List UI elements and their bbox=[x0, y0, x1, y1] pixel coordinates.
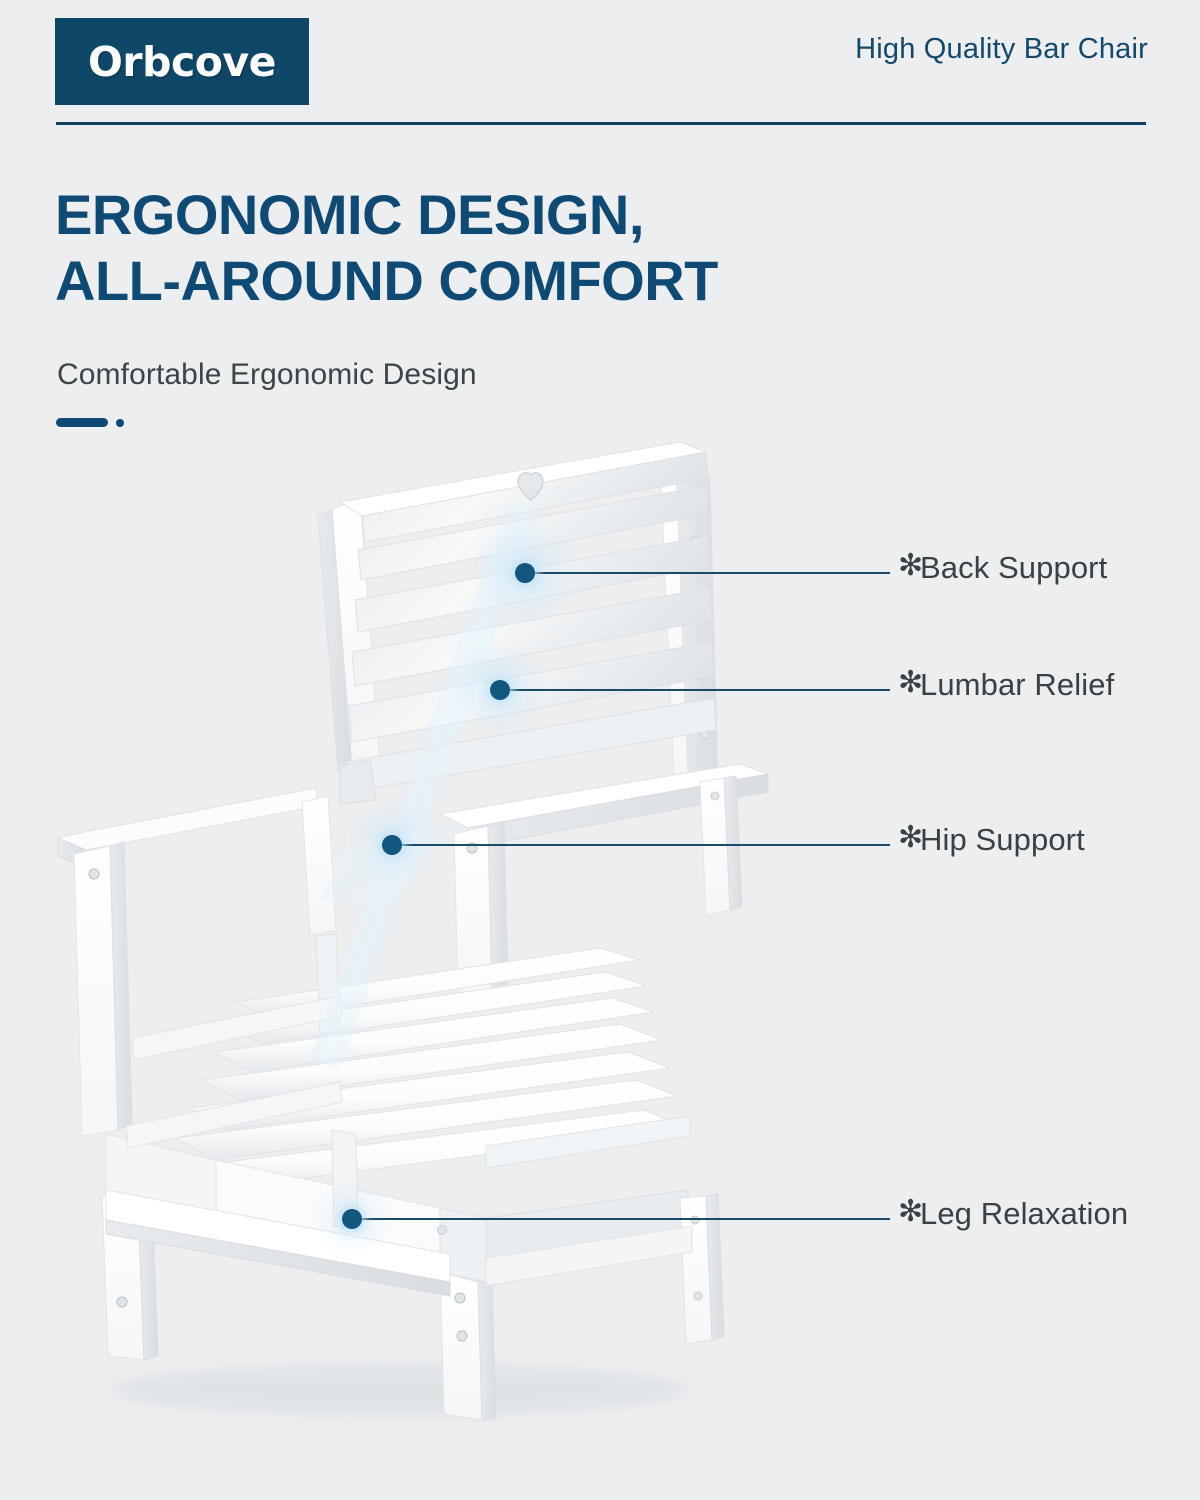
headline-line-1: ERGONOMIC DESIGN, bbox=[55, 182, 955, 248]
accent-dash bbox=[56, 418, 108, 427]
brand-logo-text: Orbcove bbox=[88, 38, 276, 86]
accent-rule bbox=[56, 418, 136, 427]
header-tagline: High Quality Bar Chair bbox=[855, 33, 1148, 66]
callout-label-lumbar-relief: Lumbar Relief bbox=[920, 667, 1114, 703]
callout-dot bbox=[515, 563, 535, 583]
page-subtitle: Comfortable Ergonomic Design bbox=[57, 358, 477, 392]
callout-label-back-support: Back Support bbox=[920, 550, 1107, 586]
callout-leader-line bbox=[392, 844, 890, 846]
page-headline: ERGONOMIC DESIGN, ALL-AROUND COMFORT bbox=[55, 182, 955, 313]
headline-line-2: ALL-AROUND COMFORT bbox=[55, 248, 955, 314]
product-image-bar-chair bbox=[40, 430, 800, 1430]
accent-dot bbox=[116, 419, 124, 427]
callout-leader-line bbox=[525, 572, 890, 574]
callout-dot bbox=[382, 835, 402, 855]
callout-dot bbox=[490, 680, 510, 700]
callout-label-leg-relaxation: Leg Relaxation bbox=[920, 1196, 1128, 1232]
brand-logo: Orbcove bbox=[55, 18, 309, 105]
header-divider bbox=[56, 122, 1146, 125]
callout-dot bbox=[342, 1209, 362, 1229]
callout-label-hip-support: Hip Support bbox=[920, 822, 1085, 858]
callout-leader-line bbox=[352, 1218, 890, 1220]
callout-leader-line bbox=[500, 689, 890, 691]
page-header: Orbcove High Quality Bar Chair bbox=[0, 0, 1200, 132]
